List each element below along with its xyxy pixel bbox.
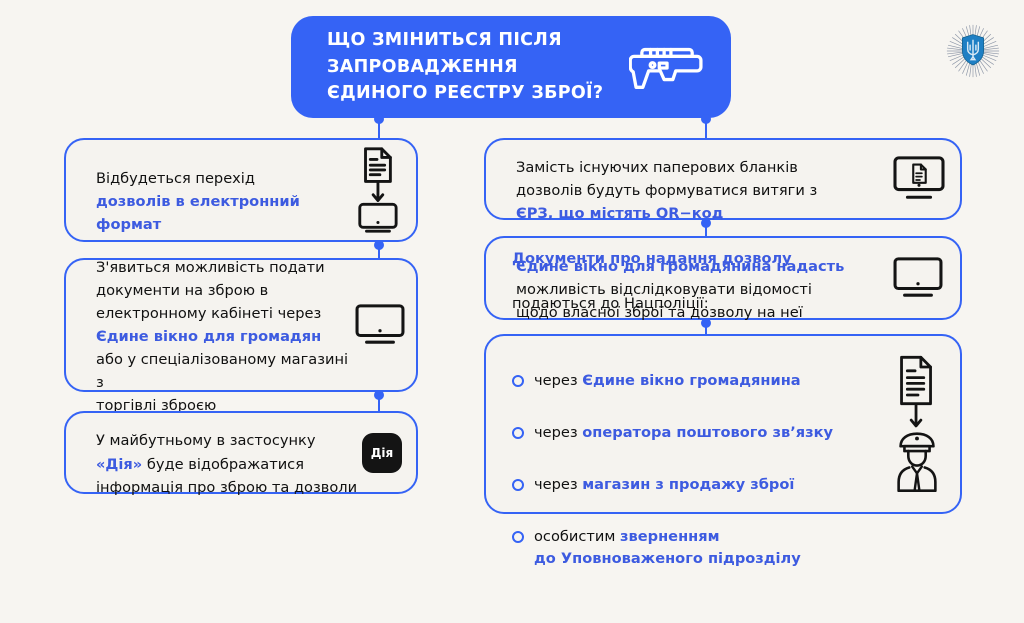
list-item: через магазин з продажу зброї <box>512 474 888 496</box>
monitor-with-document-icon <box>892 155 946 203</box>
list-item-plain: через <box>534 476 582 493</box>
card-electronic-cabinet-submission: З'явиться можливість подати документи на… <box>64 258 418 392</box>
dia-badge-label: Дія <box>362 433 402 473</box>
list-item-accent: оператора поштового зв’язку <box>582 424 833 441</box>
card-qr-extracts: Замість існуючих паперових бланків дозво… <box>484 138 962 220</box>
header-card: ЩО ЗМІНИТЬСЯ ПІСЛЯ ЗАПРОВАДЖЕННЯ ЄДИНОГО… <box>291 16 731 118</box>
national-police-of-ukraine-emblem <box>944 22 1002 80</box>
monitor-icon <box>892 256 944 300</box>
card-permit-submission-channels: Документи про надання дозволу подаються … <box>484 334 962 514</box>
card-text: Замість існуючих паперових бланків дозво… <box>516 133 892 225</box>
list-item-plain: через <box>534 372 582 389</box>
card-text: У майбутньому в застосунку «Дія» буде ві… <box>96 406 362 498</box>
list-item-accent: магазин з продажу зброї <box>582 476 794 493</box>
list-item-text: через Єдине вікно громадянина <box>534 370 801 392</box>
card-electronic-permits: Відбудеться перехід дозволів в електронн… <box>64 138 418 242</box>
card-plain-text: У майбутньому в застосунку <box>96 432 316 449</box>
list-item-plain: особистим <box>534 528 620 545</box>
list-item-plain: через <box>534 424 582 441</box>
card-text: Документи про надання дозволу подаються … <box>512 225 888 623</box>
connector-header-to-left-column <box>378 118 380 140</box>
list-item: через Єдине вікно громадянина <box>512 370 888 392</box>
card-accent-text: дозволів в електронний формат <box>96 193 300 233</box>
card-accent-text: ЄРЗ, що містять QR−код <box>516 205 723 222</box>
document-to-monitor-icon <box>352 146 402 234</box>
card-plain-text: Замість існуючих паперових бланків дозво… <box>516 159 817 199</box>
infographic-canvas: ЩО ЗМІНИТЬСЯ ПІСЛЯ ЗАПРОВАДЖЕННЯ ЄДИНОГО… <box>0 0 1024 538</box>
card-dia-app-info: У майбутньому в застосунку «Дія» буде ві… <box>64 411 418 494</box>
list-item-text: особистим зверненням до Уповноваженого п… <box>534 526 801 570</box>
list-item-text: через оператора поштового зв’язку <box>534 422 833 444</box>
bullet-circle-icon <box>512 375 524 387</box>
card-plain-text-2: або у спеціалізованому магазині з торгів… <box>96 351 348 414</box>
page-title: ЩО ЗМІНИТЬСЯ ПІСЛЯ ЗАПРОВАДЖЕННЯ ЄДИНОГО… <box>327 27 629 107</box>
card-plain-text: Відбудеться перехід <box>96 170 255 187</box>
card-accent-text: «Дія» <box>96 456 142 473</box>
card-accent-text: Єдине вікно для громадян <box>96 328 321 345</box>
card-accent-text: Документи про надання дозволу <box>512 250 792 267</box>
bullet-circle-icon <box>512 427 524 439</box>
card-text: З'явиться можливість подати документи на… <box>96 233 354 417</box>
dia-app-badge: Дія <box>362 433 402 473</box>
bullet-circle-icon <box>512 479 524 491</box>
list-item: через оператора поштового зв’язку <box>512 422 888 444</box>
list-item-accent: Єдине вікно громадянина <box>582 372 800 389</box>
submission-channel-list: через Єдине вікно громадянина через опер… <box>512 347 888 600</box>
bullet-circle-icon <box>512 531 524 543</box>
document-to-police-officer-icon <box>888 351 946 497</box>
card-text: Відбудеться перехід дозволів в електронн… <box>96 144 352 236</box>
monitor-icon <box>354 303 406 347</box>
list-item-text: через магазин з продажу зброї <box>534 474 794 496</box>
pistol-icon <box>629 37 707 97</box>
card-plain-text: подаються до Нацполіції: <box>512 295 709 312</box>
list-item: особистим зверненням до Уповноваженого п… <box>512 526 888 570</box>
card-plain-text: З'явиться можливість подати документи на… <box>96 259 325 322</box>
